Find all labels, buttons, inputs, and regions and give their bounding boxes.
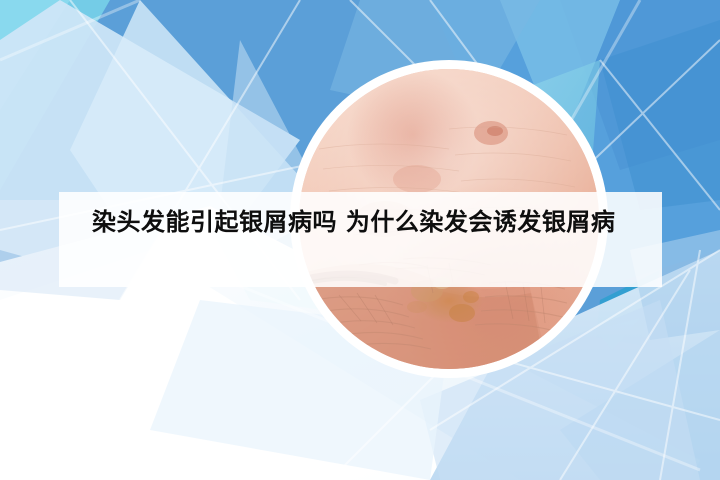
page-title: 染头发能引起银屑病吗 为什么染发会诱发银屑病: [92, 204, 652, 240]
cover-image-canvas: 染头发能引起银屑病吗 为什么染发会诱发银屑病: [0, 0, 720, 480]
